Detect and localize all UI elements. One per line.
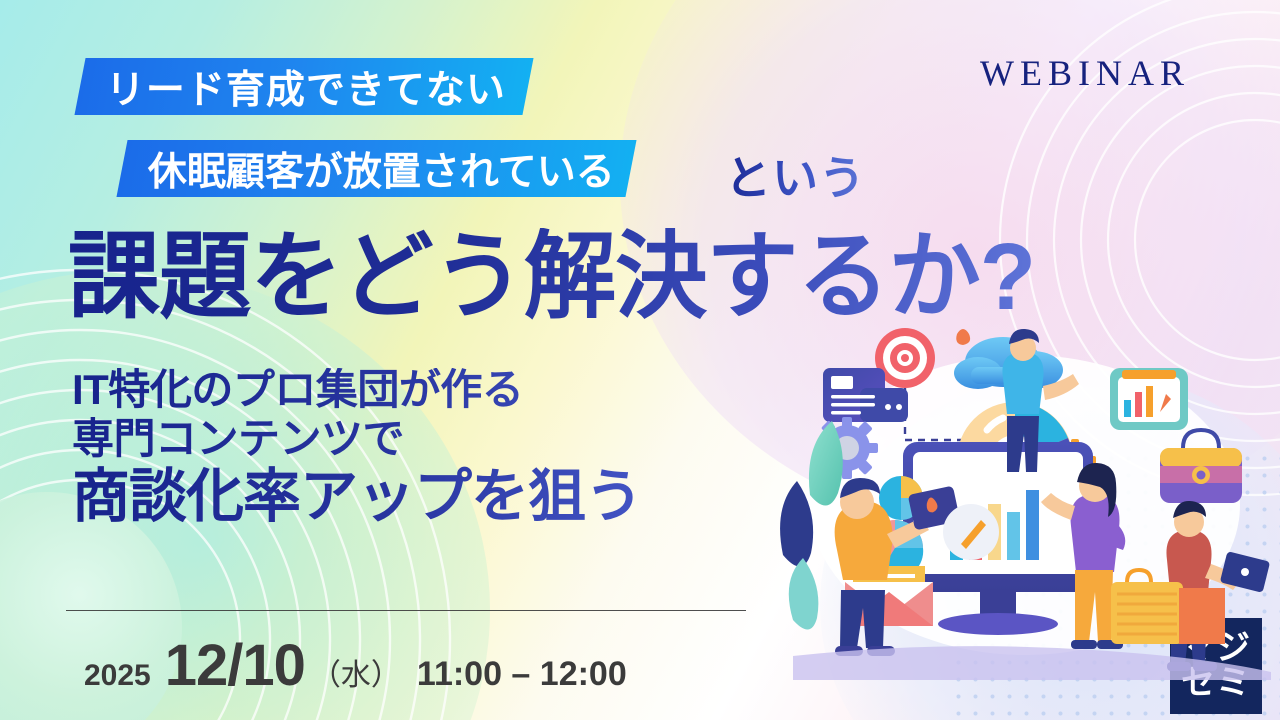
connector-text: という [725,142,866,208]
schedule-time-range: 11:00 – 12:00 [417,655,627,694]
business-analytics-illustration [775,320,1280,680]
schedule-month-day: 12/10 [165,632,305,699]
pain-point-ribbon-2-label: 休眠顧客が放置されている [148,141,615,197]
schedule-year: 2025 [84,659,151,693]
subheadline-line-3: 商談化率アップを狙う [72,466,642,527]
pain-point-ribbon-2: 休眠顧客が放置されている [116,140,636,197]
schedule-bar: 2025 12/10 （水） 11:00 – 12:00 [84,632,627,699]
subheadline-block: IT特化のプロ集団が作る 専門コンテンツで 商談化率アップを狙う [72,368,642,528]
pain-point-ribbon-1: リード育成できてない [74,58,533,115]
subheadline-line-1: IT特化のプロ集団が作る [72,368,642,413]
webinar-banner: WEBINAR リード育成できてない 休眠顧客が放置されている という 課題をど… [0,0,1280,720]
gauge-icon [943,504,999,560]
webinar-eyebrow-label: WEBINAR [980,52,1190,94]
schedule-day-of-week: （水） [311,650,401,694]
pain-point-ribbon-1-label: リード育成できてない [106,59,506,115]
analytics-panel-icon [1110,368,1188,430]
divider-rule [66,610,746,611]
subheadline-line-2: 専門コンテンツで [72,417,642,462]
page-title: 課題をどう解決するか? [68,228,1035,328]
